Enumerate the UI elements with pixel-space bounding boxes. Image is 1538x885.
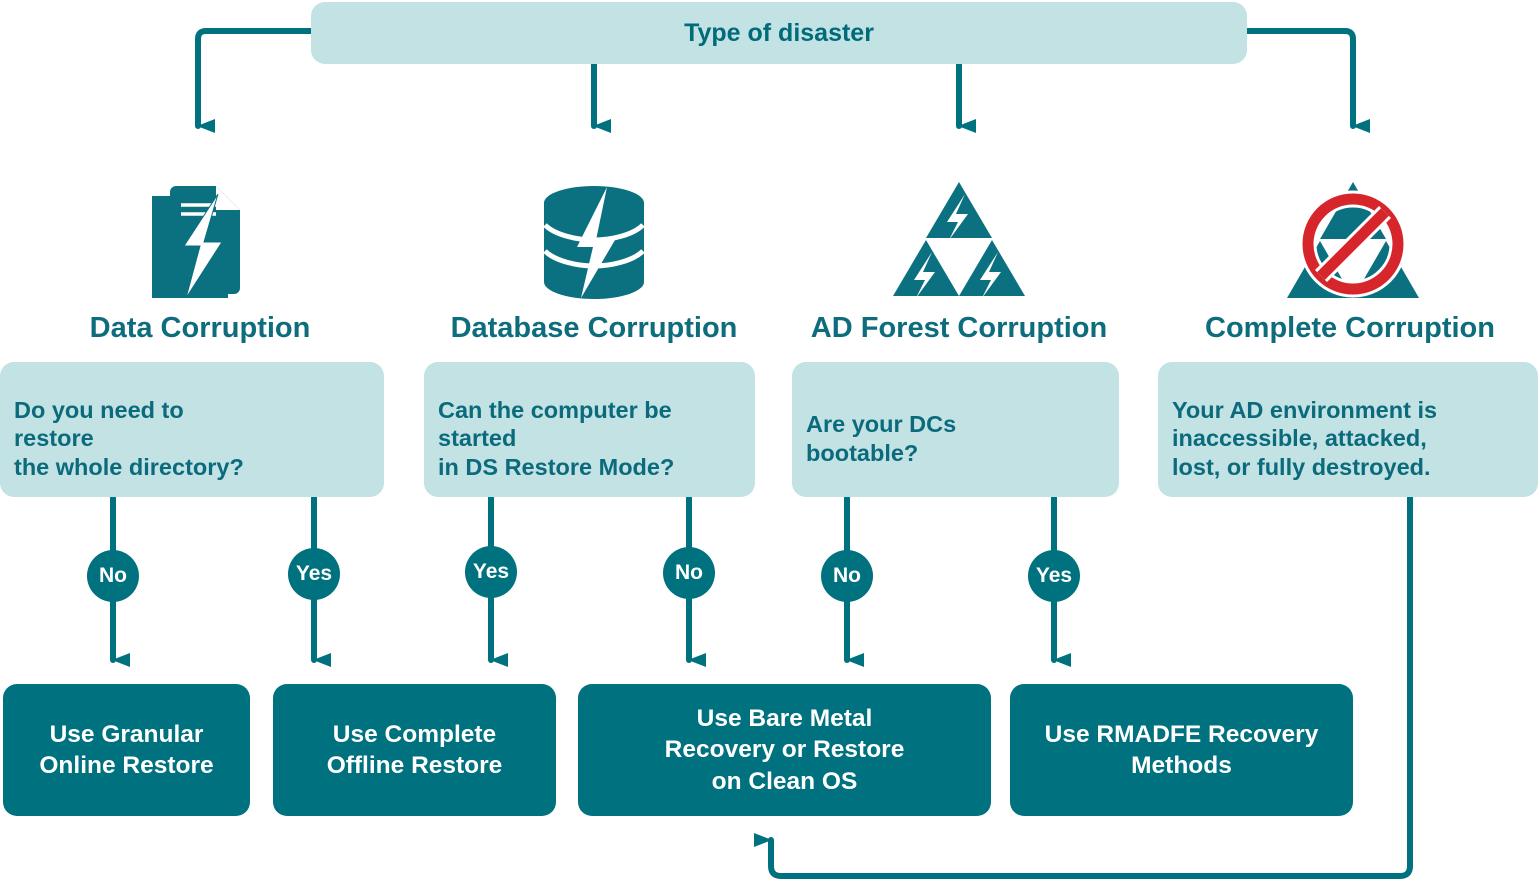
root-node-type-of-disaster[interactable]: Type of disaster	[311, 2, 1247, 64]
answer-badge-yes-data-corruption[interactable]: Yes	[288, 548, 340, 600]
result-line: Online Restore	[39, 750, 213, 781]
database-lightning-icon	[541, 185, 647, 300]
category-label-data-corruption: Data Corruption	[0, 312, 400, 345]
root-node-label: Type of disaster	[684, 19, 874, 48]
category-label-complete-corruption: Complete Corruption	[1150, 312, 1538, 345]
category-label-ad-forest-corruption: AD Forest Corruption	[759, 312, 1159, 345]
result-box-use-rmadfe-recovery-methods[interactable]: Use RMADFE Recovery Methods	[1010, 684, 1353, 816]
question-line: started	[438, 424, 516, 453]
result-box-use-granular-online-restore[interactable]: Use Granular Online Restore	[3, 684, 250, 816]
three-trees-prohibited-icon	[1286, 182, 1420, 300]
result-line: Use Granular	[50, 719, 204, 750]
question-box-ad-forest-corruption[interactable]: Are your DCs bootable?	[792, 362, 1119, 497]
question-line: Can the computer be	[438, 396, 672, 425]
question-line: bootable?	[806, 439, 918, 468]
question-line: Your AD environment is	[1172, 396, 1437, 425]
question-line: the whole directory?	[14, 453, 244, 482]
answer-badge-yes-database-corruption[interactable]: Yes	[465, 546, 517, 598]
question-box-data-corruption[interactable]: Do you need to restore the whole directo…	[0, 362, 384, 497]
answer-badge-no-data-corruption[interactable]: No	[87, 550, 139, 602]
result-line: Use Bare Metal	[697, 703, 873, 734]
result-line: on Clean OS	[712, 766, 858, 797]
result-line: Recovery or Restore	[665, 734, 905, 765]
three-trees-lightning-icon	[893, 182, 1025, 298]
question-line: inaccessible, attacked,	[1172, 424, 1427, 453]
question-line: restore	[14, 424, 94, 453]
result-line: Use RMADFE Recovery	[1045, 719, 1319, 750]
question-line: Are your DCs	[806, 410, 956, 439]
document-lightning-icon	[148, 182, 252, 302]
question-line: lost, or fully destroyed.	[1172, 453, 1431, 482]
question-line: Do you need to	[14, 396, 184, 425]
question-box-complete-corruption[interactable]: Your AD environment is inaccessible, att…	[1158, 362, 1538, 497]
answer-badge-no-ad-forest-corruption[interactable]: No	[821, 550, 873, 602]
answer-badge-yes-ad-forest-corruption[interactable]: Yes	[1028, 550, 1080, 602]
category-label-database-corruption: Database Corruption	[394, 312, 794, 345]
result-box-use-bare-metal-recovery[interactable]: Use Bare Metal Recovery or Restore on Cl…	[578, 684, 991, 816]
result-line: Use Complete	[333, 719, 496, 750]
answer-badge-no-database-corruption[interactable]: No	[663, 547, 715, 599]
question-line: in DS Restore Mode?	[438, 453, 674, 482]
result-line: Methods	[1131, 750, 1232, 781]
result-line: Offline Restore	[327, 750, 503, 781]
question-box-database-corruption[interactable]: Can the computer be started in DS Restor…	[424, 362, 755, 497]
result-box-use-complete-offline-restore[interactable]: Use Complete Offline Restore	[273, 684, 556, 816]
flowchart-canvas: Type of disaster	[0, 0, 1538, 885]
